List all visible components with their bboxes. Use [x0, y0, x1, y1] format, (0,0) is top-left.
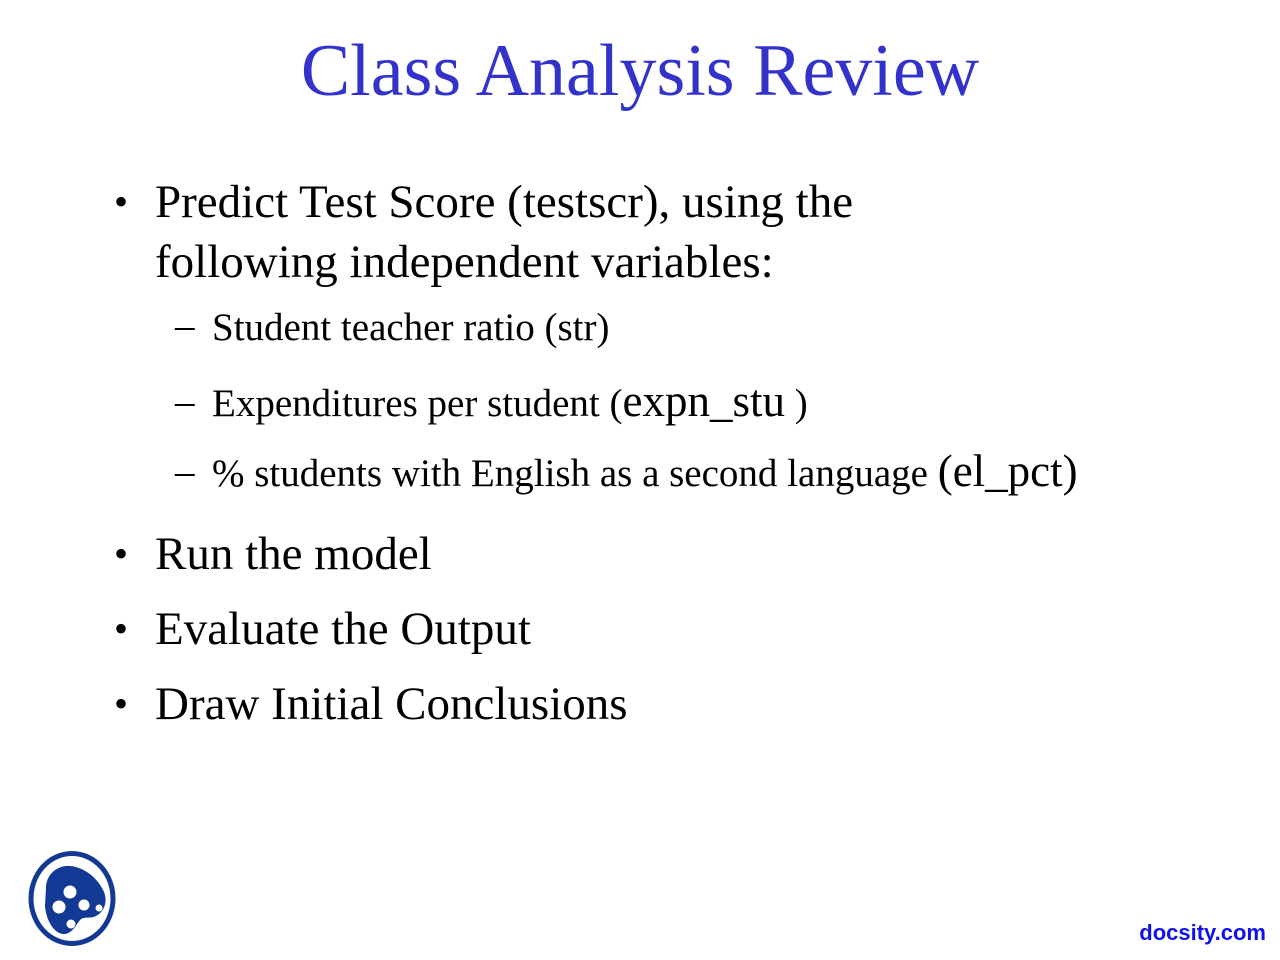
bullet-item-4-label: Draw Initial Conclusions	[155, 674, 1025, 734]
sub-bullet-3-text-before: % students with English as a second lang…	[212, 452, 938, 495]
sub-bullet-1-text-before: Student teacher ratio (str)	[212, 306, 609, 349]
bullet-dot-icon: •	[114, 524, 142, 584]
dash-marker-icon: –	[175, 300, 209, 351]
sub-bullet-2-variable: expn_stu	[622, 376, 785, 426]
bullet-list: • Predict Test Score (testscr), using th…	[100, 172, 1170, 734]
sub-bullet-item-1-label: Student teacher ratio (str)	[212, 300, 1147, 353]
sub-bullet-item-2-label: Expenditures per student (expn_stu )	[212, 376, 1147, 429]
bullet-dot-icon: •	[114, 172, 142, 232]
bullet-item-2-label: Run the model	[155, 524, 1025, 584]
sub-bullet-item-1: – Student teacher ratio (str)	[100, 300, 1170, 353]
docsity-site-label: docsity.com	[1139, 920, 1266, 946]
sub-bullet-2-text-before: Expenditures per student (	[212, 382, 622, 425]
bullet-item-1: • Predict Test Score (testscr), using th…	[100, 172, 1170, 292]
bullet-item-3: • Evaluate the Output	[100, 599, 1170, 659]
sub-bullet-item-3: – % students with English as a second la…	[100, 446, 1170, 499]
dash-marker-icon: –	[175, 446, 209, 497]
sub-bullet-2-text-after: )	[785, 382, 808, 425]
bullet-item-4: • Draw Initial Conclusions	[100, 674, 1170, 734]
sub-bullet-3-variable: (el_pct)	[938, 446, 1078, 496]
sub-bullet-item-2: – Expenditures per student (expn_stu )	[100, 376, 1170, 429]
sub-bullet-item-3-label: % students with English as a second lang…	[212, 446, 1147, 499]
sub-bullet-list: – Student teacher ratio (str) – Expendit…	[100, 300, 1170, 499]
dash-marker-icon: –	[175, 376, 209, 427]
bullet-dot-icon: •	[114, 599, 142, 659]
docsity-logo-icon	[26, 850, 118, 947]
slide-canvas: Class Analysis Review • Predict Test Sco…	[0, 0, 1280, 960]
bullet-item-1-label: Predict Test Score (testscr), using the …	[155, 172, 1025, 292]
bullet-item-3-label: Evaluate the Output	[155, 599, 1025, 659]
page-title: Class Analysis Review	[0, 28, 1280, 114]
bullet-dot-icon: •	[114, 674, 142, 734]
bullet-item-2: • Run the model	[100, 524, 1170, 584]
